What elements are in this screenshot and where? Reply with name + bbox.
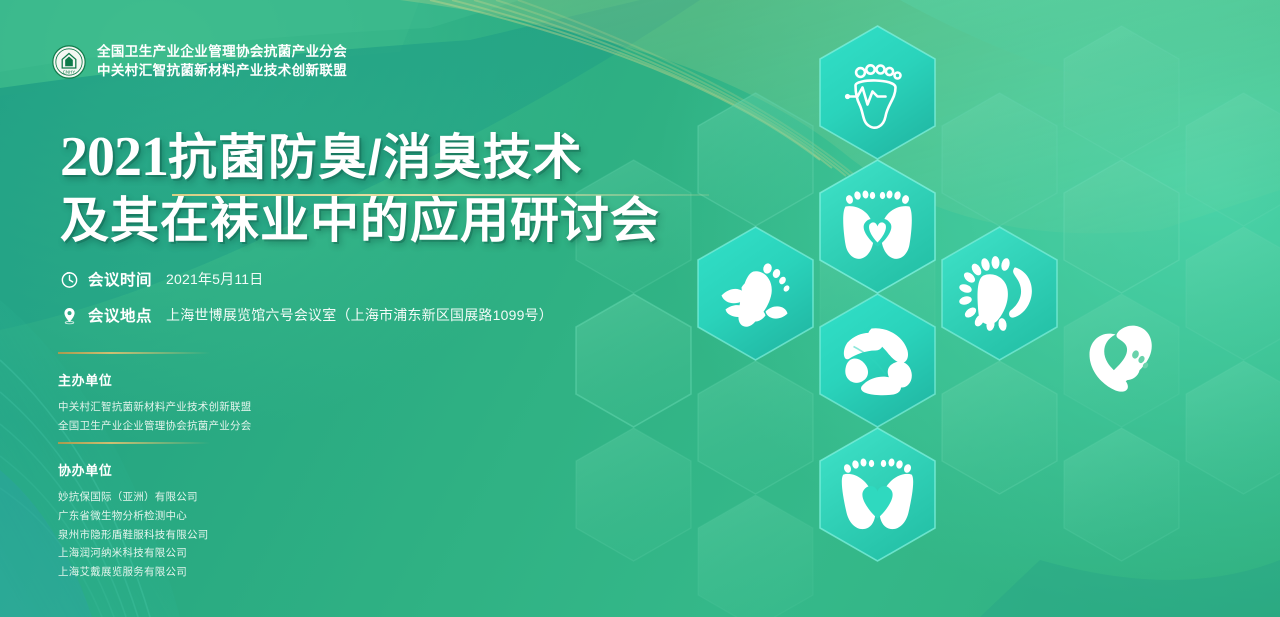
list-item: 广东省微生物分析检测中心 — [58, 509, 210, 525]
meeting-location-label: 会议地点 — [88, 304, 152, 326]
meeting-time-value: 2021年5月11日 — [166, 269, 263, 289]
title-year: 2021 — [60, 129, 168, 185]
conference-banner: CNHY 全国卫生产业企业管理协会抗菌产业分会 中关村汇智抗菌新材料产业技术创新… — [0, 0, 1280, 617]
meeting-location-row: 会议地点 上海世博展览馆六号会议室（上海市浦东新区国展路1099号） — [60, 304, 553, 326]
co-organizers-block: 协办单位 妙抗保国际（亚洲）有限公司 广东省微生物分析检测中心 泉州市隐形盾鞋服… — [58, 442, 210, 581]
org-name-line-2: 中关村汇智抗菌新材料产业技术创新联盟 — [97, 63, 347, 79]
title-line-2: 及其在袜业中的应用研讨会 — [60, 197, 660, 246]
list-item: 上海艾戴展览服务有限公司 — [58, 565, 210, 581]
meeting-meta: 会议时间 2021年5月11日 会议地点 上海世博展览馆六号会议室（上海市浦东新… — [60, 268, 553, 340]
host-organizations-block: 主办单位 中关村汇智抗菌新材料产业技术创新联盟 全国卫生产业企业管理协会抗菌产业… — [58, 352, 252, 435]
left-content-column: CNHY 全国卫生产业企业管理协会抗菌产业分会 中关村汇智抗菌新材料产业技术创新… — [0, 0, 680, 617]
meeting-time-label: 会议时间 — [88, 268, 152, 290]
meeting-location-value: 上海世博展览馆六号会议室（上海市浦东新区国展路1099号） — [166, 305, 553, 325]
list-item: 中关村汇智抗菌新材料产业技术创新联盟 — [58, 400, 252, 416]
page-title: 2021 抗菌防臭/消臭技术 及其在袜业中的应用研讨会 — [60, 128, 660, 246]
title-underline — [172, 194, 709, 196]
clock-icon — [60, 270, 79, 289]
section-divider — [58, 442, 210, 444]
title-line-1: 抗菌防臭/消臭技术 — [168, 134, 583, 183]
cnhy-association-seal-logo: CNHY — [52, 45, 86, 79]
co-organizers-title: 协办单位 — [58, 460, 210, 479]
host-organizations-list: 中关村汇智抗菌新材料产业技术创新联盟 全国卫生产业企业管理协会抗菌产业分会 — [58, 400, 252, 435]
list-item: 上海润河纳米科技有限公司 — [58, 546, 210, 562]
co-organizers-list: 妙抗保国际（亚洲）有限公司 广东省微生物分析检测中心 泉州市隐形盾鞋服科技有限公… — [58, 490, 210, 581]
list-item: 全国卫生产业企业管理协会抗菌产业分会 — [58, 419, 252, 435]
list-item: 妙抗保国际（亚洲）有限公司 — [58, 490, 210, 506]
list-item: 泉州市隐形盾鞋服科技有限公司 — [58, 528, 210, 544]
section-divider — [58, 352, 210, 354]
organization-header: CNHY 全国卫生产业企业管理协会抗菌产业分会 中关村汇智抗菌新材料产业技术创新… — [52, 44, 347, 80]
host-organizations-title: 主办单位 — [58, 370, 252, 389]
meeting-time-row: 会议时间 2021年5月11日 — [60, 268, 553, 290]
logo-text: CNHY — [63, 69, 76, 74]
org-name-line-1: 全国卫生产业企业管理协会抗菌产业分会 — [97, 44, 347, 60]
location-pin-icon — [60, 306, 79, 325]
